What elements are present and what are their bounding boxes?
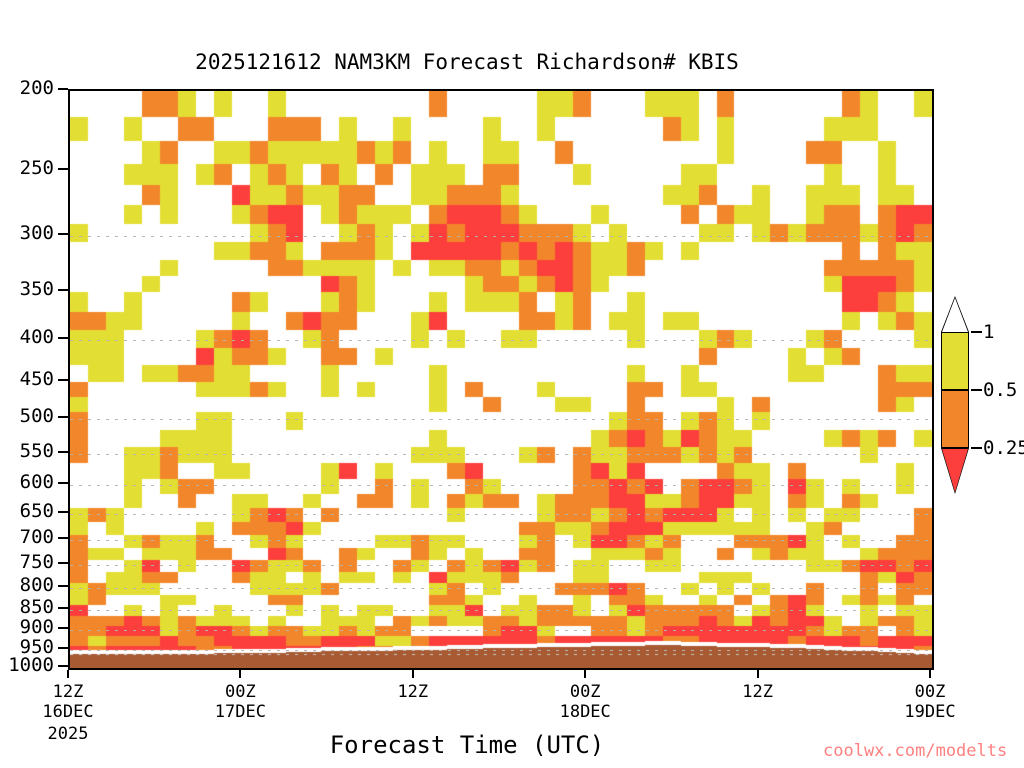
- colorbar-below-arrow: [942, 449, 968, 492]
- gridline: [70, 565, 932, 566]
- gridline: [70, 610, 932, 611]
- y-tick-mark: [58, 289, 68, 291]
- y-tick-mark: [58, 168, 68, 170]
- y-tick-label: 1000: [0, 656, 54, 675]
- x-tick-time: 12Z: [698, 683, 818, 702]
- x-tick-date: 17DEC: [180, 703, 300, 722]
- x-tick-mark: [67, 670, 69, 678]
- page-title: 2025121612 NAM3KM Forecast Richardson# K…: [0, 50, 934, 74]
- y-tick-mark: [58, 562, 68, 564]
- colorbar-label-1: 1: [983, 323, 994, 342]
- colorbar-segment-yellow: [941, 332, 969, 390]
- y-tick-label: 250: [0, 159, 54, 178]
- y-tick-label: 800: [0, 576, 54, 595]
- colorbar-tick-0.5: [971, 389, 982, 391]
- colorbar-tick-1: [971, 331, 982, 333]
- y-tick-label: 350: [0, 280, 54, 299]
- y-tick-mark: [58, 233, 68, 235]
- gridline: [70, 454, 932, 455]
- colorbar-label-0.25: 0.25: [983, 439, 1024, 458]
- y-tick-mark: [58, 537, 68, 539]
- y-tick-label: 650: [0, 502, 54, 521]
- colorbar-label-0.5: 0.5: [983, 381, 1017, 400]
- watermark: coolwx.com/modelts: [823, 741, 1007, 761]
- x-tick-time: 12Z: [353, 683, 473, 702]
- y-tick-label: 850: [0, 598, 54, 617]
- x-axis-label: Forecast Time (UTC): [0, 731, 934, 759]
- y-tick-label: 900: [0, 618, 54, 637]
- gridline: [70, 540, 932, 541]
- y-tick-mark: [58, 482, 68, 484]
- gridline: [70, 630, 932, 631]
- x-tick-mark: [412, 670, 414, 678]
- y-tick-mark: [58, 665, 68, 667]
- y-tick-mark: [58, 647, 68, 649]
- gridline: [70, 650, 932, 651]
- x-tick-time: 00Z: [180, 683, 300, 702]
- gridline: [70, 668, 932, 669]
- y-tick-mark: [58, 627, 68, 629]
- x-tick-mark: [584, 670, 586, 678]
- x-tick-time: 12Z: [8, 683, 128, 702]
- x-tick-time: 00Z: [525, 683, 645, 702]
- y-tick-label: 400: [0, 328, 54, 347]
- y-tick-mark: [58, 337, 68, 339]
- y-tick-label: 550: [0, 442, 54, 461]
- x-tick-mark: [929, 670, 931, 678]
- colorbar-above-arrow: [942, 298, 968, 332]
- x-tick-date: 18DEC: [525, 703, 645, 722]
- x-tick-mark: [757, 670, 759, 678]
- gridline: [70, 485, 932, 486]
- y-tick-label: 750: [0, 553, 54, 572]
- y-tick-mark: [58, 585, 68, 587]
- y-tick-label: 450: [0, 370, 54, 389]
- gridline: [70, 236, 932, 237]
- y-tick-label: 500: [0, 407, 54, 426]
- gridline: [70, 340, 932, 341]
- gridline: [70, 514, 932, 515]
- y-tick-label: 200: [0, 79, 54, 98]
- gridline: [70, 419, 932, 420]
- y-tick-mark: [58, 379, 68, 381]
- x-tick-mark: [239, 670, 241, 678]
- y-tick-mark: [58, 607, 68, 609]
- x-tick-date: 19DEC: [870, 703, 990, 722]
- y-tick-label: 700: [0, 528, 54, 547]
- y-tick-mark: [58, 511, 68, 513]
- colorbar-tick-0.25: [971, 447, 982, 449]
- y-tick-mark: [58, 88, 68, 90]
- colorbar-segment-orange: [941, 390, 969, 448]
- y-tick-label: 300: [0, 224, 54, 243]
- x-tick-time: 00Z: [870, 683, 990, 702]
- y-tick-mark: [58, 416, 68, 418]
- y-tick-mark: [58, 451, 68, 453]
- colorbar: 1 0.5 0.25: [941, 296, 971, 492]
- x-tick-date: 16DEC: [8, 703, 128, 722]
- chart-plot-area: [68, 89, 934, 670]
- heatmap-canvas: [70, 91, 932, 668]
- gridline: [70, 588, 932, 589]
- y-tick-label: 600: [0, 473, 54, 492]
